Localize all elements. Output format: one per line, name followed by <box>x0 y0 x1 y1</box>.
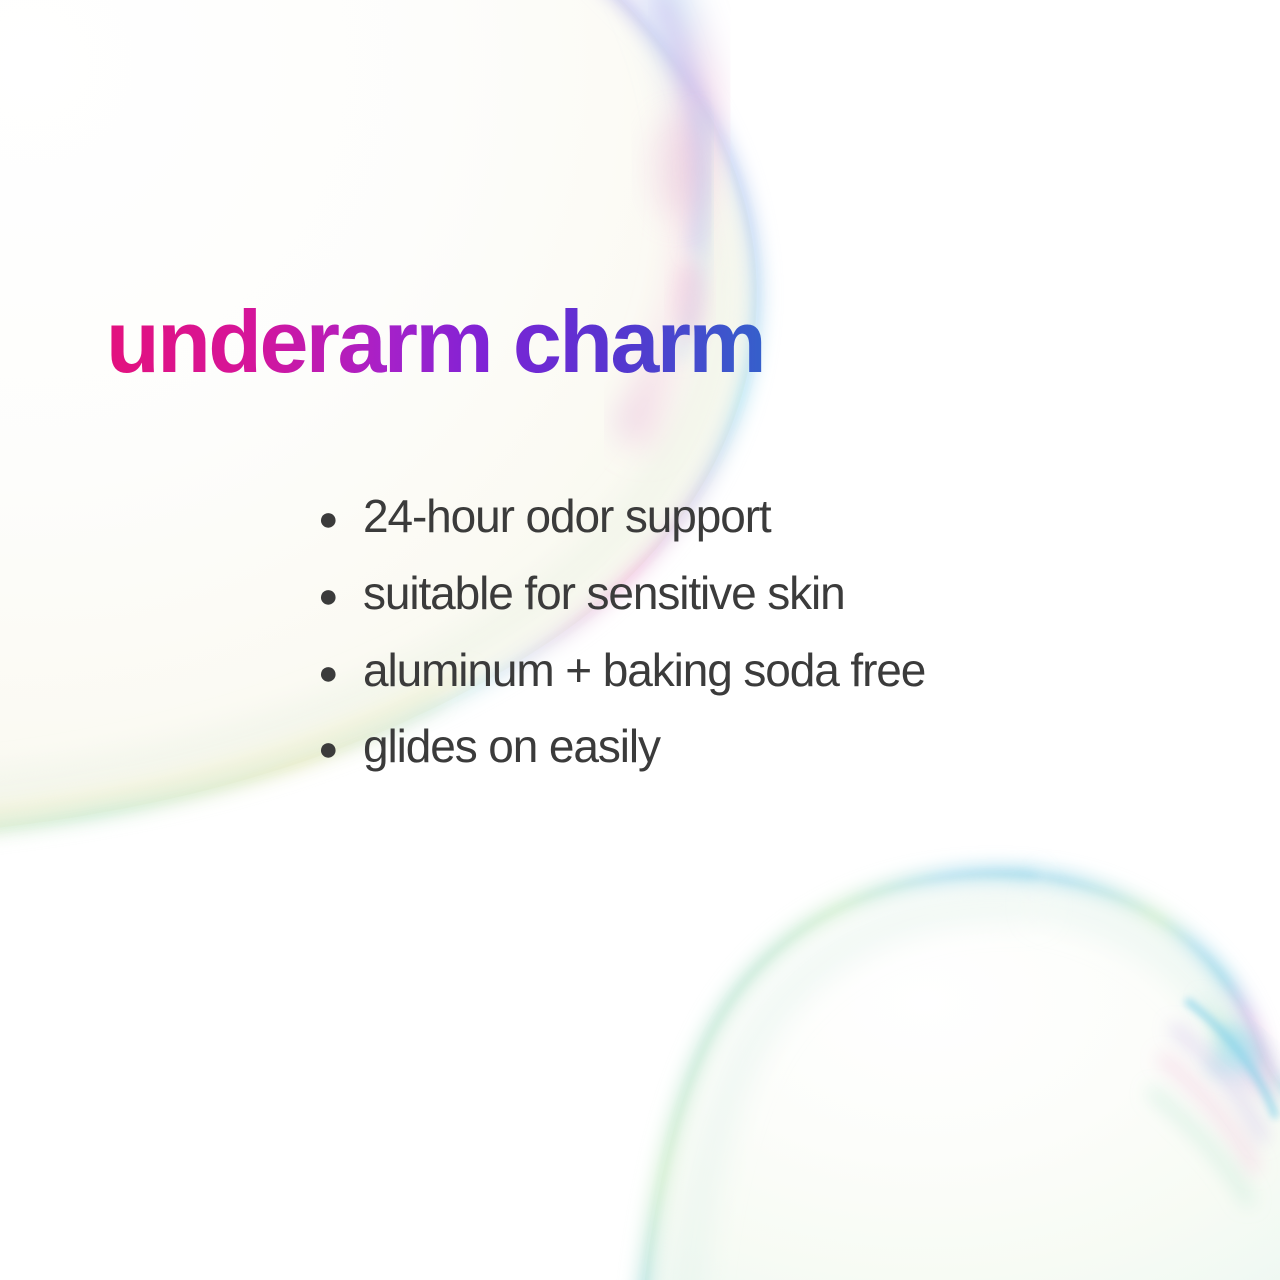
list-item: ● glides on easily <box>318 722 925 771</box>
list-item-label: aluminum + baking soda free <box>363 646 925 695</box>
page-title: underarm charm <box>106 296 764 388</box>
bullet-icon: ● <box>318 656 363 690</box>
list-item-label: 24-hour odor support <box>363 492 771 541</box>
list-item-label: glides on easily <box>363 722 660 771</box>
list-item: ● suitable for sensitive skin <box>318 569 925 618</box>
list-item: ● 24-hour odor support <box>318 492 925 541</box>
bullet-icon: ● <box>318 502 363 536</box>
list-item-label: suitable for sensitive skin <box>363 569 845 618</box>
bullet-icon: ● <box>318 732 363 766</box>
list-item: ● aluminum + baking soda free <box>318 646 925 695</box>
copy-block: underarm charm ● 24-hour odor support ● … <box>0 0 1280 1280</box>
product-feature-graphic: underarm charm ● 24-hour odor support ● … <box>0 0 1280 1280</box>
bullet-icon: ● <box>318 579 363 613</box>
feature-benefit-list: ● 24-hour odor support ● suitable for se… <box>318 492 925 771</box>
